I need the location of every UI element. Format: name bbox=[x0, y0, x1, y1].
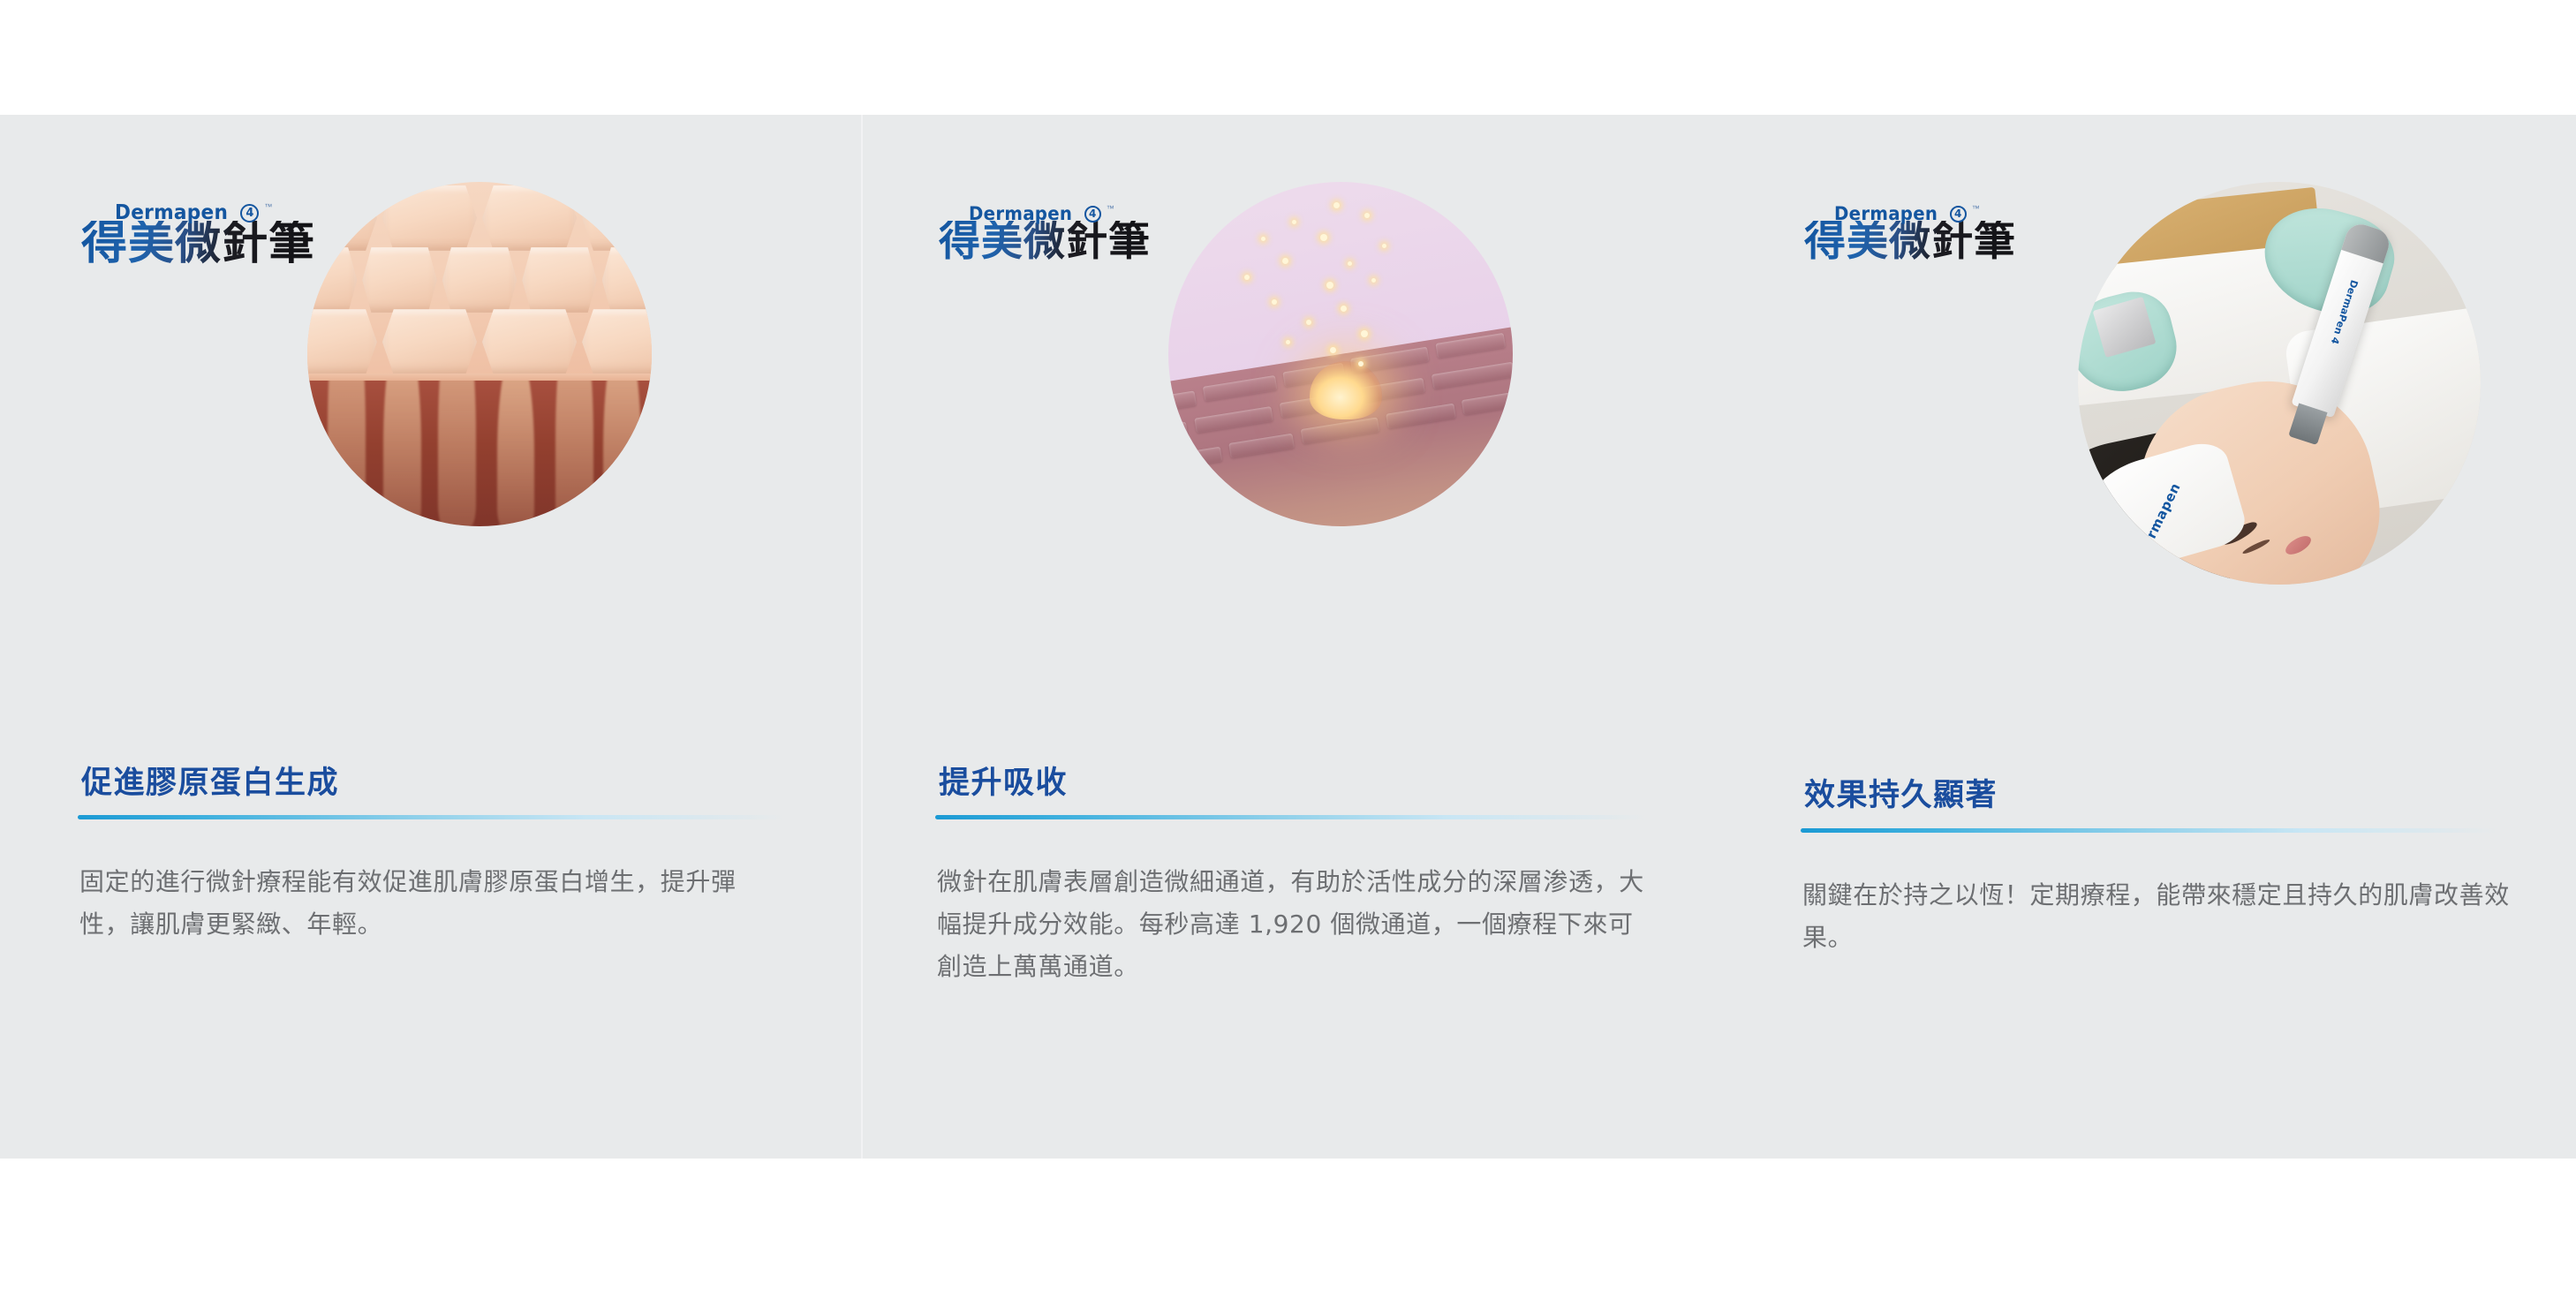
heading-divider bbox=[78, 815, 784, 819]
device-brand-text: DermaPen 4 bbox=[2328, 278, 2360, 345]
dermapen-logo: Dermapen 4 ™ 得美微針筆 bbox=[939, 203, 1151, 263]
feature-heading: 提升吸收 bbox=[939, 758, 1068, 803]
logo-latin-text: Dermapen bbox=[1834, 203, 1938, 224]
heading-divider bbox=[935, 815, 1646, 819]
feature-column-3: Dermapen 4 ™ 得美微針筆 Dermapen bbox=[1726, 115, 2576, 1159]
epidermis-cell-row bbox=[307, 185, 652, 251]
lips bbox=[2283, 532, 2314, 558]
feature-body-text: 關鍵在於持之以恆！定期療程，能帶來穩定且持久的肌膚改善效果。 bbox=[1802, 874, 2513, 959]
feature-body-text: 固定的進行微針療程能有效促進肌膚膠原蛋白增生，提升彈性，讓肌膚更緊緻、年輕。 bbox=[79, 861, 786, 946]
feature-column-1: Dermapen 4 ™ 得美微針筆 bbox=[0, 115, 861, 1159]
clinical-treatment-photo-image: Dermapen DermaPen 4 bbox=[2078, 182, 2481, 585]
logo-latin-text: Dermapen bbox=[115, 201, 228, 224]
skin-cross-section-image bbox=[307, 182, 652, 526]
closed-eye bbox=[2242, 538, 2272, 556]
dermapen-logo: Dermapen 4 ™ 得美微針筆 bbox=[1804, 203, 2016, 263]
epidermis-cell-row bbox=[307, 247, 652, 313]
logo-trademark-icon: ™ bbox=[264, 202, 272, 211]
feature-body-text: 微針在肌膚表層創造微細通道，有助於活性成分的深層渗透，大幅提升成分效能。每秒高達… bbox=[937, 861, 1652, 988]
logo-chinese-text: 得美微針筆 bbox=[1804, 221, 2016, 263]
absorption-illustration-image bbox=[1168, 182, 1513, 526]
heading-divider bbox=[1801, 828, 2498, 833]
logo-chinese-text: 得美微針筆 bbox=[81, 221, 315, 268]
logo-latin-text: Dermapen bbox=[969, 203, 1072, 224]
feature-heading: 效果持久顯著 bbox=[1804, 770, 1998, 815]
logo-trademark-icon: ™ bbox=[1107, 204, 1114, 213]
dermapen-logo: Dermapen 4 ™ 得美微針筆 bbox=[81, 201, 315, 268]
basement-membrane-line bbox=[307, 374, 652, 381]
promo-panel: Dermapen 4 ™ 得美微針筆 bbox=[0, 0, 2576, 1306]
logo-trademark-icon: ™ bbox=[1972, 204, 1980, 213]
feature-heading: 促進膠原蛋白生成 bbox=[81, 758, 339, 803]
feature-column-2: Dermapen 4 ™ 得美微針筆 bbox=[861, 115, 1726, 1159]
logo-chinese-text: 得美微針筆 bbox=[939, 221, 1151, 263]
epidermis-cell-row bbox=[307, 309, 652, 374]
